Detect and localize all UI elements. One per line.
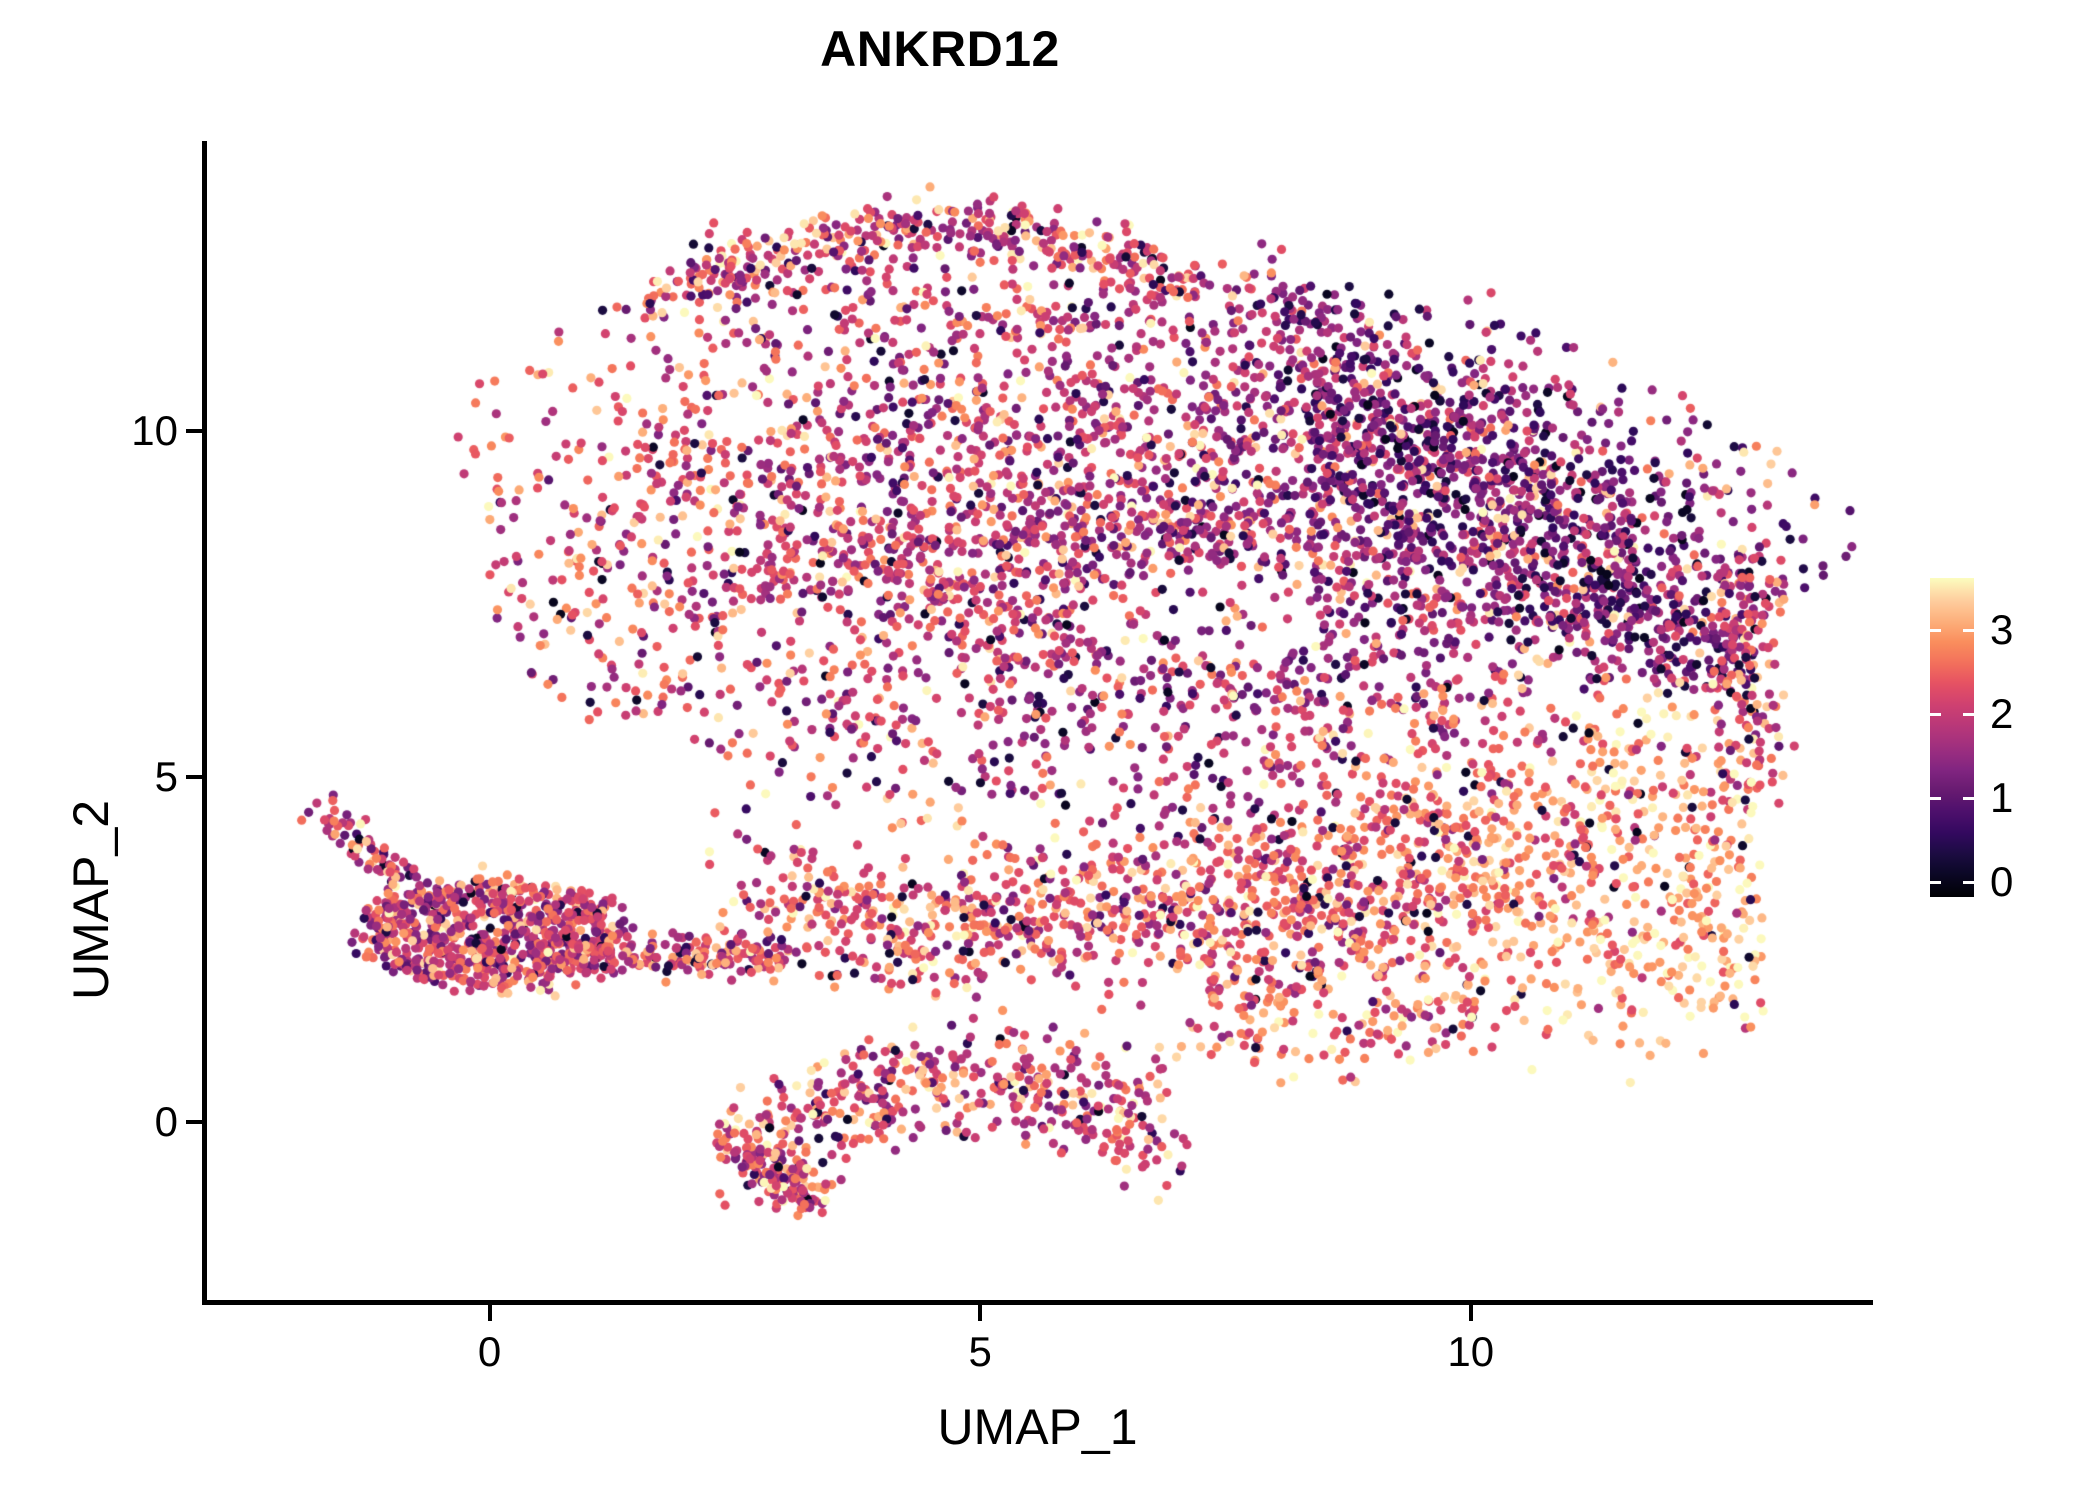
scatter-points-layer (205, 141, 1873, 1302)
x-axis-line (202, 1300, 1873, 1305)
y-tick-mark (186, 775, 202, 779)
colorbar-tick-mark (1930, 629, 1974, 632)
plot-title: ANKRD12 (0, 22, 1880, 77)
colorbar-gradient (1930, 578, 1974, 897)
y-axis-title: UMAP_2 (62, 800, 120, 1000)
y-tick-mark (186, 429, 202, 433)
colorbar-tick-label: 1 (1990, 774, 2013, 822)
colorbar-tick-mark (1930, 881, 1974, 884)
colorbar-tick-mark (1930, 797, 1974, 800)
y-tick-label: 10 (131, 407, 178, 455)
x-axis-title: UMAP_1 (202, 1398, 1873, 1456)
x-tick-mark (978, 1305, 982, 1321)
colorbar-tick-label: 0 (1990, 858, 2013, 906)
x-tick-label: 5 (968, 1328, 991, 1376)
y-tick-label: 5 (155, 753, 178, 801)
x-tick-mark (488, 1305, 492, 1321)
colorbar-tick-mark (1930, 713, 1974, 716)
y-axis-line (202, 141, 207, 1305)
colorbar-tick-label: 2 (1990, 690, 2013, 738)
colorbar-tick-label: 3 (1990, 606, 2013, 654)
y-tick-label: 0 (155, 1098, 178, 1146)
plot-panel (205, 141, 1873, 1302)
y-tick-mark (186, 1120, 202, 1124)
x-tick-label: 10 (1447, 1328, 1494, 1376)
x-tick-label: 0 (478, 1328, 501, 1376)
x-tick-mark (1469, 1305, 1473, 1321)
feature-plot-figure: ANKRD12 0510 0510 UMAP_1 UMAP_2 0123 (0, 0, 2100, 1500)
